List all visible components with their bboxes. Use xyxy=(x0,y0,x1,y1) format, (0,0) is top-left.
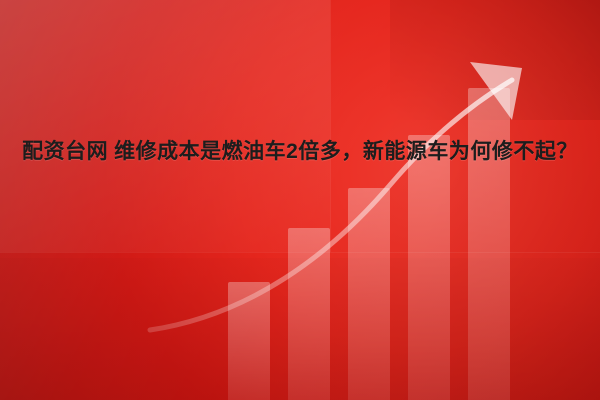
growth-chart-graphic xyxy=(0,0,600,400)
site-name-label: 配资台网 xyxy=(22,140,108,163)
upward-trend-arrow-icon xyxy=(0,0,600,400)
headline-title: 维修成本是燃油车2倍多，新能源车为何修不起？ xyxy=(114,140,578,163)
promo-banner: 配资台网维修成本是燃油车2倍多，新能源车为何修不起？ xyxy=(0,0,600,400)
banner-headline: 配资台网维修成本是燃油车2倍多，新能源车为何修不起？ xyxy=(10,132,590,172)
